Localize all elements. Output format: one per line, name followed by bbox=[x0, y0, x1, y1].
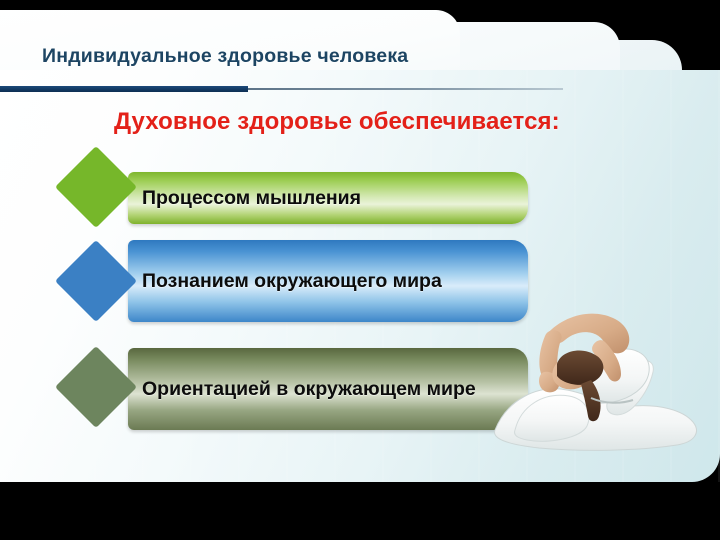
diamond-marker-1 bbox=[55, 146, 137, 228]
list-item-bar-1[interactable]: Процессом мышления bbox=[128, 172, 528, 224]
presentation-slide: Индивидуальное здоровье человека Духовно… bbox=[0, 0, 720, 540]
yoga-pose-image bbox=[487, 280, 717, 460]
list-item-label-3: Ориентацией в окружающем мире bbox=[128, 378, 484, 401]
list-item-label-1: Процессом мышления bbox=[128, 187, 369, 210]
section-heading: Духовное здоровье обеспечивается: bbox=[114, 108, 560, 136]
title-rule-navy bbox=[0, 86, 248, 92]
diamond-marker-3 bbox=[55, 346, 137, 428]
title-rule-grey bbox=[248, 88, 563, 90]
background-slab-front bbox=[0, 10, 460, 160]
list-item-label-2: Познанием окружающего мира bbox=[128, 270, 450, 293]
slide-title: Индивидуальное здоровье человека bbox=[42, 45, 408, 68]
diamond-marker-2 bbox=[55, 240, 137, 322]
list-item-bar-3[interactable]: Ориентацией в окружающем мире bbox=[128, 348, 528, 430]
list-item-bar-2[interactable]: Познанием окружающего мира bbox=[128, 240, 528, 322]
